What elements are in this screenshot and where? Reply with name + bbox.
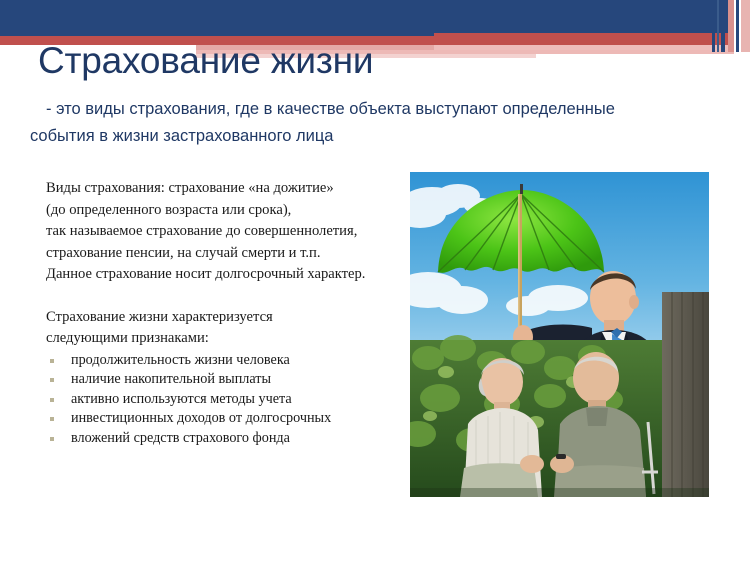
list-item: продолжительность жизни человека: [46, 351, 396, 371]
paragraph-characteristics-intro: Страхование жизни характеризуется следую…: [46, 307, 396, 350]
slide-title: Страхование жизни: [38, 40, 373, 82]
banner-vertical-stripe-1: [712, 0, 715, 52]
list-item: наличие накопительной выплаты: [46, 370, 396, 390]
paragraph-2-line-1: Страхование жизни характеризуется: [46, 307, 396, 329]
paragraph-1-line-4: страхование пенсии, на случай смерти и т…: [46, 243, 396, 265]
paragraph-1-line-5: Данное страхование носит долгосрочный ха…: [46, 264, 396, 286]
paragraph-1-line-3: так называемое страхование до совершенно…: [46, 221, 396, 243]
subtitle-line-1: - это виды страхования, где в качестве о…: [30, 100, 615, 118]
subtitle-line-2: события в жизни застрахованного лица: [30, 127, 334, 145]
paragraph-2-line-2: следующими признаками:: [46, 328, 396, 350]
slide-subtitle: - это виды страхования, где в качестве о…: [30, 96, 730, 150]
insurance-photo: [410, 172, 709, 497]
banner-vertical-stripe-3: [721, 0, 725, 52]
photo-illustration: [410, 172, 709, 497]
paragraph-1-line-1: Виды страхования: страхование «на дожити…: [46, 178, 396, 200]
banner-vertical-stripe-2: [717, 0, 719, 52]
banner-navy-band: [0, 0, 728, 36]
banner-vertical-stripe-6: [741, 0, 750, 52]
slide-canvas: Страхование жизни - это виды страхования…: [0, 0, 750, 561]
list-item: активно используются методы учета: [46, 390, 396, 410]
paragraph-1-line-2: (до определенного возраста или срока),: [46, 200, 396, 222]
paragraph-types-of-insurance: Виды страхования: страхование «на дожити…: [46, 178, 396, 286]
list-item: инвестиционных доходов от долгосрочных: [46, 409, 396, 429]
list-item: вложений средств страхового фонда: [46, 429, 396, 449]
body-text-column: Виды страхования: страхование «на дожити…: [46, 178, 396, 448]
banner-vertical-stripe-4: [728, 0, 734, 52]
banner-vertical-stripe-5: [736, 0, 739, 52]
banner-red-band-right: [434, 33, 728, 45]
characteristics-bullet-list: продолжительность жизни человека наличие…: [46, 351, 396, 449]
